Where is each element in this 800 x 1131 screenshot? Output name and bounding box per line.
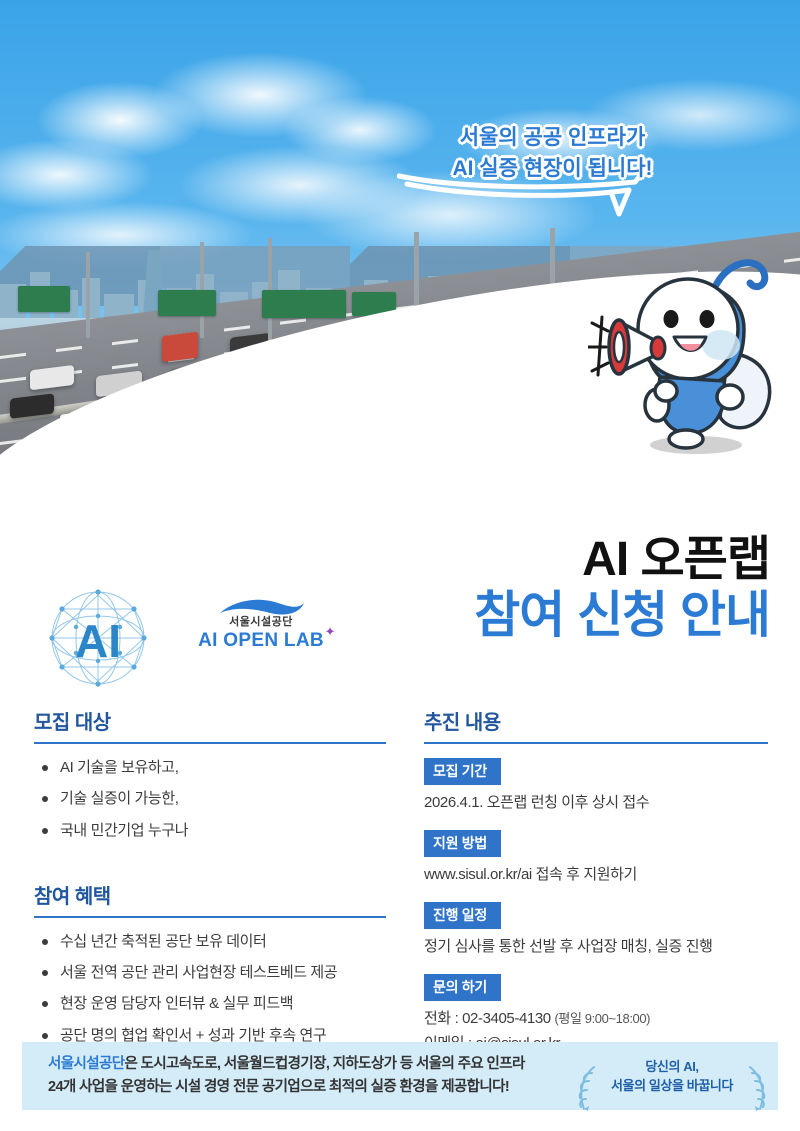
list-item: 현장 운영 담당자 인터뷰 & 실무 피드백	[34, 994, 394, 1014]
highway-sign	[262, 290, 346, 318]
label-chip-schedule: 진행 일정	[424, 902, 501, 929]
list-item: 수십 년간 축적된 공단 보유 데이터	[34, 932, 394, 952]
ai-network-sphere-logo: AI	[38, 583, 158, 693]
target-list: AI 기술을 보유하고, 기술 실증이 가능한, 국내 민간기업 누구나	[34, 758, 394, 841]
mascot-eye-left	[664, 310, 679, 328]
laurel-right-icon	[744, 1065, 770, 1113]
light-pole	[86, 252, 90, 338]
footer-band: 서울시설공단은 도시고속도로, 서울월드컵경기장, 지하도상가 등 서울의 주요…	[22, 1042, 778, 1110]
section-heading-target: 모집 대상	[34, 706, 394, 742]
section-gap	[34, 852, 394, 880]
footer-description: 서울시설공단은 도시고속도로, 서울월드컵경기장, 지하도상가 등 서울의 주요…	[22, 1053, 566, 1099]
mascot-foot-right	[669, 430, 703, 448]
poster-title: AI 오픈랩 참여 신청 안내	[474, 535, 770, 643]
title-line-2: 참여 신청 안내	[474, 587, 770, 643]
vehicle	[30, 365, 74, 390]
ai-sphere-text: AI	[75, 615, 121, 667]
highway-sign	[158, 290, 216, 316]
footer-tagline: 당신의 AI, 서울의 일상을 바꿉니다	[566, 1057, 778, 1096]
section-rule	[34, 916, 386, 918]
bubble-line-1: 서울의 공공 인프라가	[460, 125, 646, 151]
value-period: 2026.4.1. 오픈랩 런칭 이후 상시 접수	[424, 792, 774, 813]
mascot-hand-right	[717, 385, 743, 409]
mascot-face	[638, 279, 738, 379]
footer-text-line2: 24개 사업을 운영하는 시설 경영 전문 공기업으로 최적의 실증 환경을 제…	[48, 1079, 509, 1095]
contact-phone: 전화 : 02-3405-4130	[424, 1010, 551, 1027]
list-item: 기술 실증이 가능한,	[34, 789, 394, 809]
hero-photo: 서울의 공공 인프라가 AI 실증 현장이 됩니다!	[0, 0, 800, 565]
contact-hours: (평일 9:00~18:00)	[555, 1011, 651, 1026]
value-schedule: 정기 심사를 통한 선발 후 사업장 매칭, 실증 진행	[424, 936, 774, 957]
entry-period: 모집 기간 2026.4.1. 오픈랩 런칭 이후 상시 접수	[424, 758, 774, 813]
logo-group: AI 서울시설공단 AI OPEN LAB ✦	[38, 583, 338, 681]
list-item: AI 기술을 보유하고,	[34, 758, 394, 778]
speech-bubble: 서울의 공공 인프라가 AI 실증 현장이 됩니다!	[415, 108, 690, 198]
mascot-hand-left	[655, 381, 677, 401]
section-rule	[424, 742, 768, 744]
bubble-line-2: AI 실증 현장이 됩니다!	[452, 156, 652, 182]
footer-org-name: 서울시설공단	[48, 1056, 124, 1072]
mascot-character	[588, 245, 788, 465]
ai-open-lab-name: AI OPEN LAB ✦	[198, 630, 324, 652]
entry-schedule: 진행 일정 정기 심사를 통한 선발 후 사업장 매칭, 실증 진행	[424, 902, 774, 957]
value-apply[interactable]: www.sisul.or.kr/ai 접속 후 지원하기	[424, 864, 774, 885]
vehicle	[162, 332, 198, 362]
mascot-antenna	[716, 263, 765, 287]
mascot-eye-right	[700, 310, 715, 328]
right-column: 추진 내용 모집 기간 2026.4.1. 오픈랩 런칭 이후 상시 접수 지원…	[424, 706, 774, 1071]
footer-text-part1: 은 도시고속도로, 서울월드컵경기장, 지하도상가 등 서울의 주요 인프라	[124, 1056, 524, 1072]
label-chip-contact: 문의 하기	[424, 974, 501, 1001]
entry-apply: 지원 방법 www.sisul.or.kr/ai 접속 후 지원하기	[424, 830, 774, 885]
laurel-left-icon	[574, 1065, 600, 1113]
megaphone-sound-lines	[588, 317, 608, 375]
section-rule	[34, 742, 386, 744]
list-item: 국내 민간기업 누구나	[34, 821, 394, 841]
tagline-line-1: 당신의 AI,	[645, 1059, 698, 1074]
left-column: 모집 대상 AI 기술을 보유하고, 기술 실증이 가능한, 국내 민간기업 누…	[34, 706, 394, 1057]
highway-sign	[18, 286, 70, 312]
section-heading-program: 추진 내용	[424, 706, 774, 742]
label-chip-period: 모집 기간	[424, 758, 501, 785]
tagline-line-2: 서울의 일상을 바꿉니다	[611, 1078, 733, 1093]
list-item: 서울 전역 공단 관리 사업현장 테스트베드 제공	[34, 963, 394, 983]
section-heading-benefits: 참여 혜택	[34, 880, 394, 916]
benefits-list: 수십 년간 축적된 공단 보유 데이터 서울 전역 공단 관리 사업현장 테스트…	[34, 932, 394, 1046]
label-chip-apply: 지원 방법	[424, 830, 501, 857]
mascot-blush	[702, 330, 740, 360]
sisul-wordmark: 서울시설공단 AI OPEN LAB ✦	[176, 597, 346, 652]
sparkle-icon: ✦	[325, 624, 336, 640]
sisul-korean-name: 서울시설공단	[176, 613, 346, 629]
contact-phone-row: 전화 : 02-3405-4130 (평일 9:00~18:00)	[424, 1008, 774, 1029]
title-line-1: AI 오픈랩	[474, 535, 770, 585]
